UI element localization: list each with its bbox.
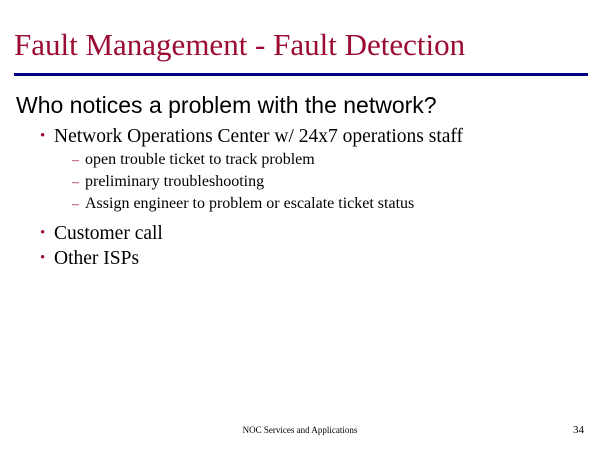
list-item-label: Customer call <box>54 223 163 244</box>
dash-icon: – <box>72 172 85 193</box>
list-item-label: Other ISPs <box>54 248 139 269</box>
list-item: •Network Operations Center w/ 24x7 opera… <box>0 124 600 149</box>
bullet-dot-icon: • <box>40 124 54 149</box>
page-title: Fault Management - Fault Detection <box>14 26 586 64</box>
list-item: –open trouble ticket to track problem <box>0 149 600 171</box>
body-heading-text: Who notices a problem with the network? <box>16 92 590 118</box>
bullet-dot-icon: • <box>40 221 54 246</box>
footer-text: NOC Services and Applications <box>0 424 600 436</box>
list-item: –preliminary troubleshooting <box>0 171 600 193</box>
dash-icon: – <box>72 194 85 215</box>
list-item-label: preliminary troubleshooting <box>85 173 264 190</box>
list-item-label: open trouble ticket to track problem <box>85 151 315 168</box>
list-item: •Other ISPs <box>0 246 600 271</box>
list-item-label: Assign engineer to problem or escalate t… <box>85 195 414 212</box>
list-item-label: Network Operations Center w/ 24x7 operat… <box>54 126 463 147</box>
dash-icon: – <box>72 150 85 171</box>
slide: Fault Management - Fault Detection Who n… <box>0 0 600 450</box>
list-item: –Assign engineer to problem or escalate … <box>0 193 600 215</box>
list-item: •Customer call <box>0 221 600 246</box>
page-number: 34 <box>573 424 584 436</box>
title-divider <box>14 73 588 76</box>
slide-body: Who notices a problem with the network? … <box>0 92 600 271</box>
body-heading: Who notices a problem with the network? <box>0 92 600 118</box>
bullet-dot-icon: • <box>40 246 54 271</box>
